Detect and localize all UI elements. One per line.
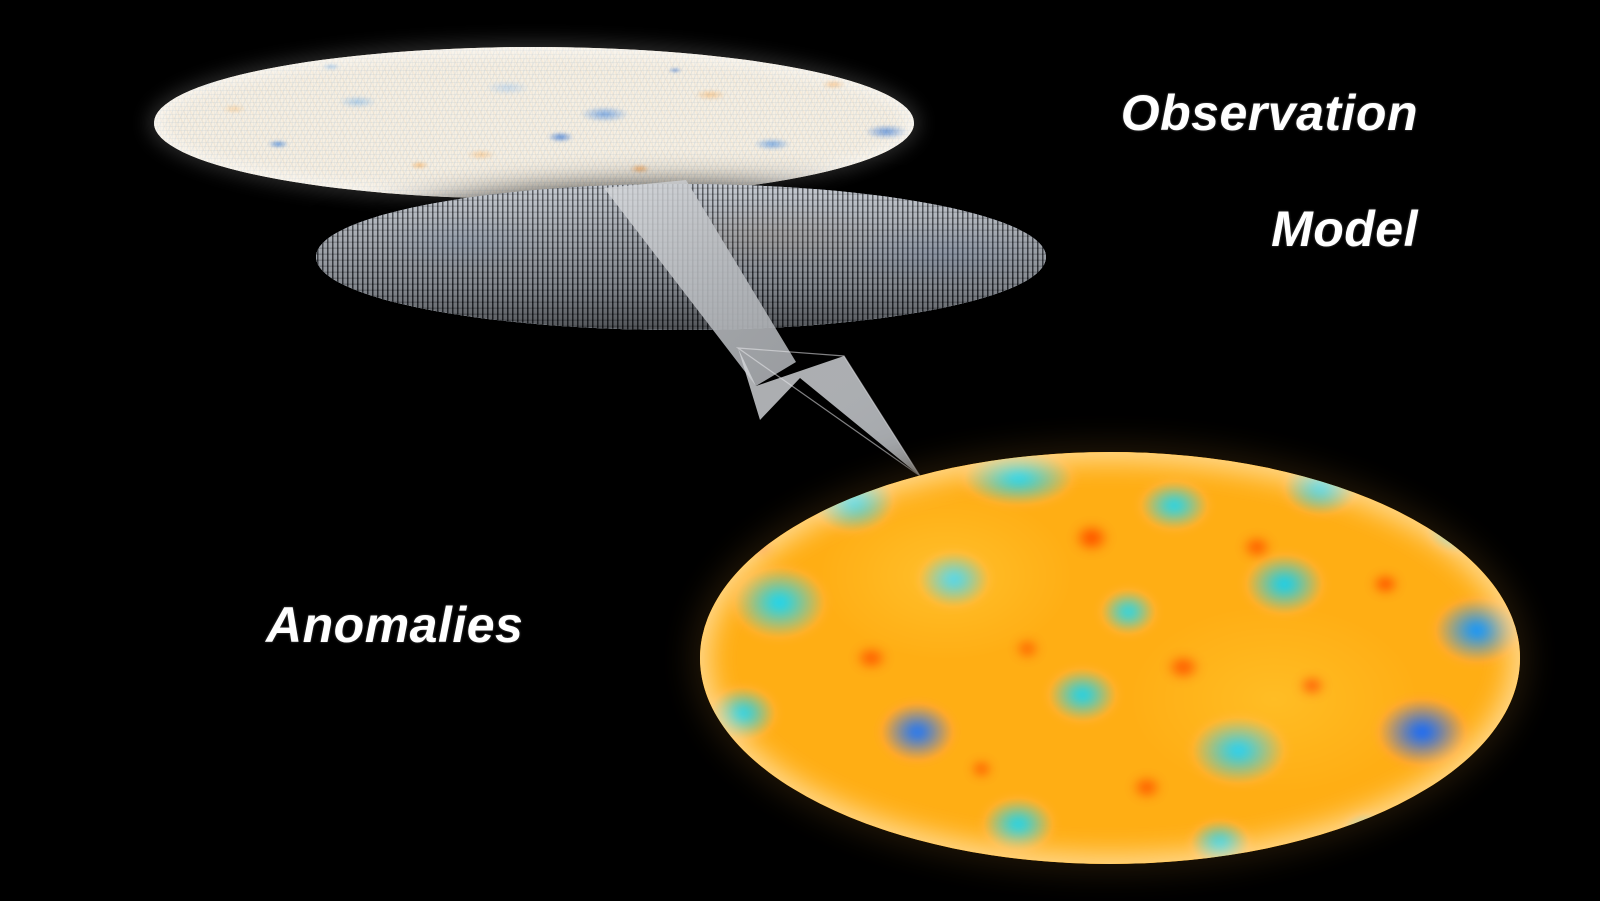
anomalies-sky-map [700, 452, 1520, 864]
observation-edge-glow [154, 47, 914, 199]
label-observation: Observation [1121, 84, 1418, 142]
figure-canvas: Observation Model Anomalies [0, 0, 1600, 901]
observation-sky-map [154, 47, 914, 199]
label-anomalies: Anomalies [266, 596, 523, 654]
anomalies-edge-glow [700, 452, 1520, 864]
label-model: Model [1271, 200, 1418, 258]
